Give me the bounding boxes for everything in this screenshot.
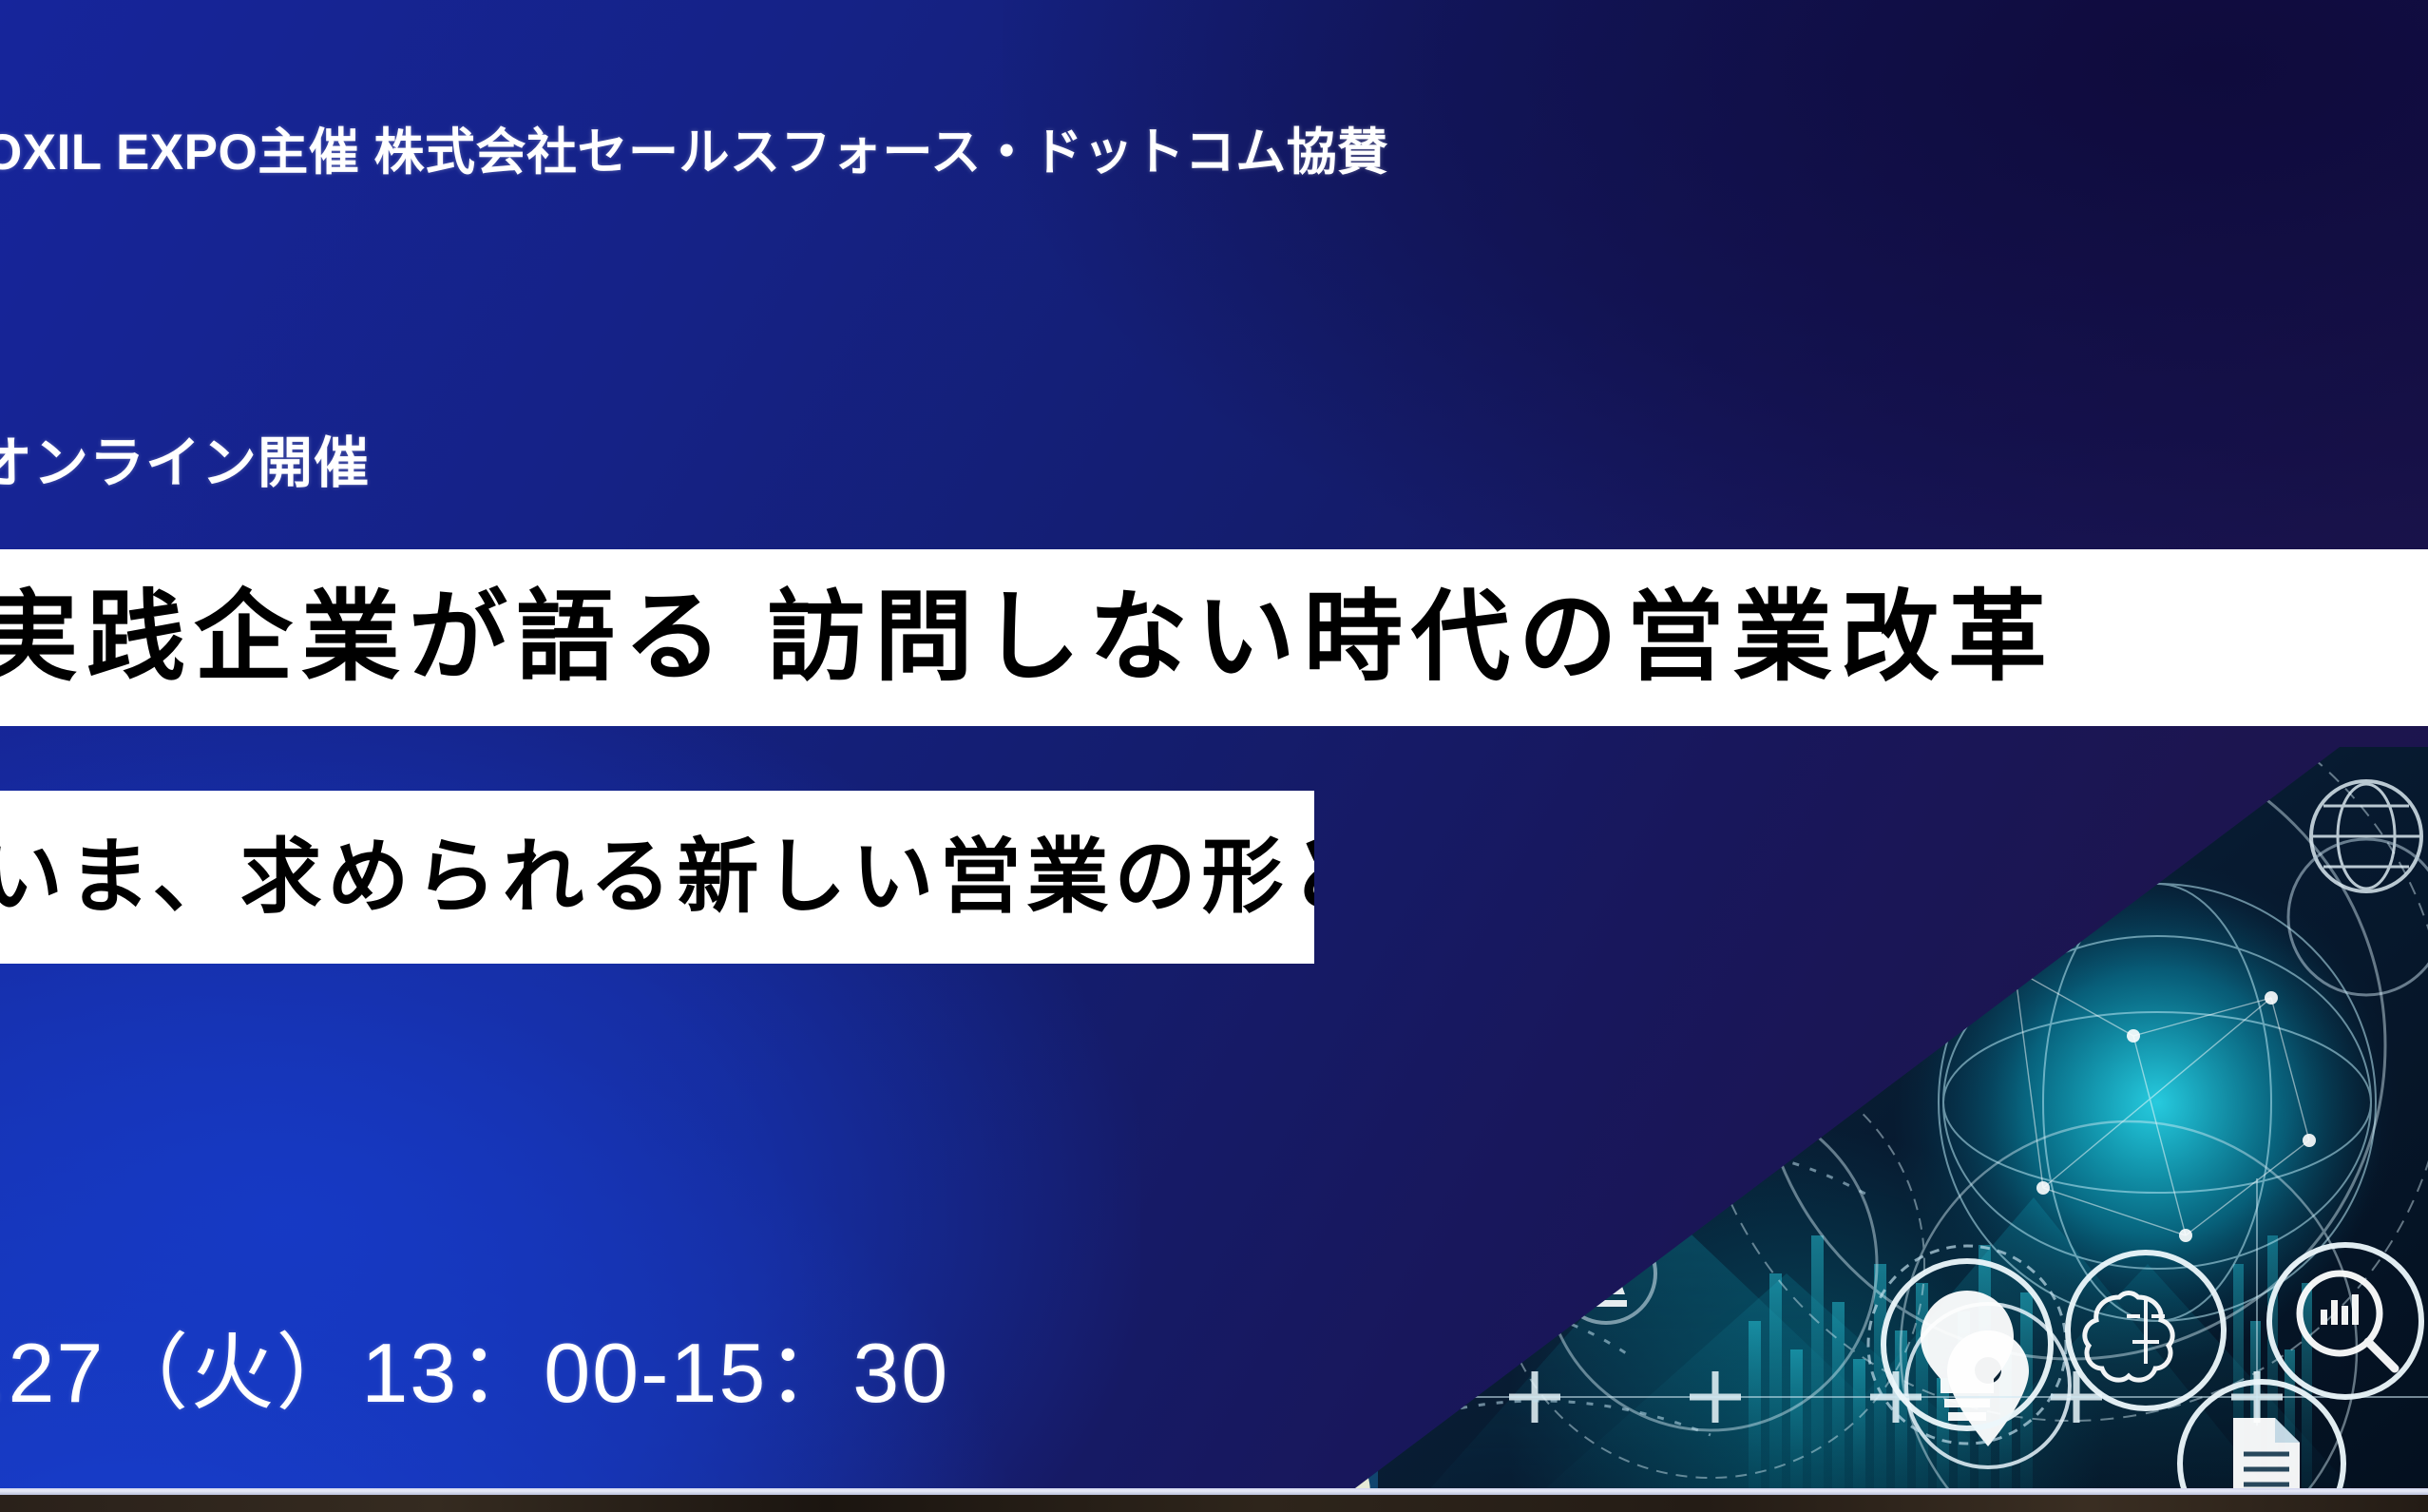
event-date-time: .27（火）13：00-15：30: [0, 1306, 949, 1426]
headline-text: 実践企業が語る 訪問しない時代の営業改革: [0, 588, 2055, 687]
subline-band: いま、求められる新しい営業の形とは: [0, 791, 1314, 964]
webinar-banner: OXIL EXPO主催 株式会社セールスフォース・ドットコム協賛 オンライン開催…: [0, 0, 2428, 1512]
brain-icon: [2068, 1253, 2224, 1408]
kicker-text: OXIL EXPO主催 株式会社セールスフォース・ドットコム協賛: [0, 112, 1388, 184]
bottom-divider-line: [0, 1488, 2428, 1495]
magnifier-chart-icon: [2269, 1245, 2421, 1397]
headline-band: 実践企業が語る 訪問しない時代の営業改革: [0, 549, 2428, 726]
lightbulb-icon: [1868, 1246, 2066, 1444]
bottom-image-strip: [0, 1495, 2428, 1512]
subline-text: いま、求められる新しい営業の形とは: [0, 836, 1314, 918]
online-label: オンライン開催: [0, 418, 370, 498]
document-icon: [2180, 1382, 2343, 1494]
